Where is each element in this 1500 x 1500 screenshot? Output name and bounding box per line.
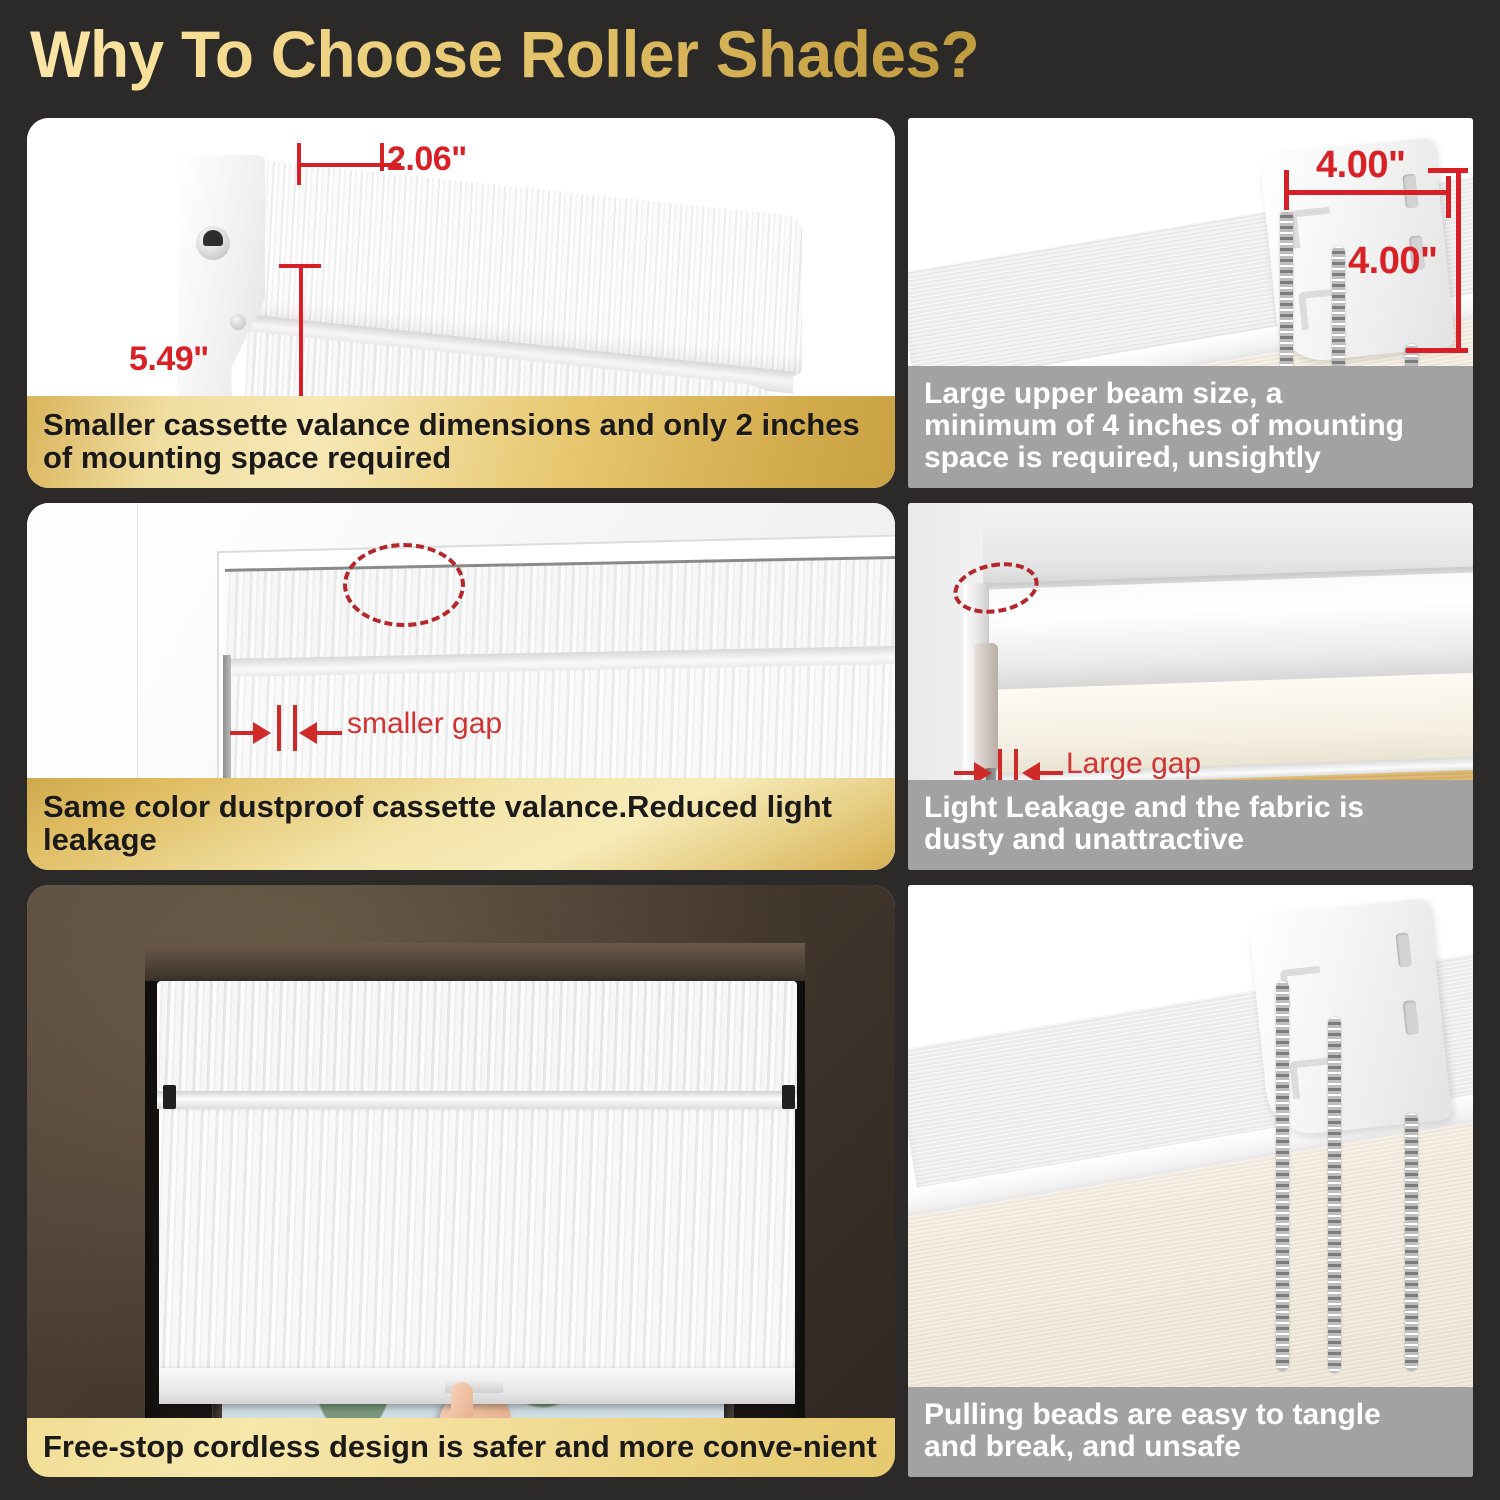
gap-tick-right (293, 705, 297, 751)
panel-cassette-valance-dimensions: 2.06" 5.49" Smaller cassette valance dim… (27, 118, 895, 488)
panel-free-stop-cordless-design: Free-stop cordless design is safer and m… (27, 885, 895, 1477)
beam-height-dimension-label: 4.00" (1348, 240, 1437, 283)
beam-width-dimension-label: 4.00" (1316, 144, 1405, 187)
bracket-hook-icon (1289, 207, 1333, 249)
bead-chain-left (1276, 981, 1289, 1371)
tension-knob-icon (196, 226, 230, 260)
beam-height-tick-top (1428, 168, 1468, 173)
caption-line-2: and break, and unsafe (924, 1431, 1459, 1463)
caption-line-2: minimum of 4 inches of mounting (924, 410, 1459, 442)
bead-chain-middle (1328, 1017, 1341, 1373)
height-dimension-label: 5.49" (129, 340, 209, 379)
smaller-gap-label: smaller gap (347, 707, 502, 741)
large-gap-label: Large gap (1066, 747, 1201, 781)
highlight-circle-valance-seam (343, 543, 465, 627)
bracket-slot-upper (1395, 932, 1411, 967)
infographic-root: Why To Choose Roller Shades? 2.06" 5.49"… (0, 0, 1500, 1500)
clutch-mechanism (974, 643, 998, 773)
gap-tick-left (277, 705, 281, 751)
caption-line-2: dusty and unattractive (924, 824, 1459, 856)
panel-caption-pulling-beads-unsafe: Pulling beads are easy to tangle and bre… (908, 1387, 1473, 1477)
panel-caption-dustproof-cassette-valance: Same color dustproof cassette valance.Re… (27, 778, 895, 870)
panel-caption-free-stop-cordless-design: Free-stop cordless design is safer and m… (27, 1418, 895, 1477)
gap-arrow-left-head (253, 722, 271, 744)
beam-height-dimension-line (1456, 170, 1461, 352)
panel-large-upper-beam: 4.00" 4.00" Large upper beam size, a min… (908, 118, 1473, 488)
width-dimension-tick-right (380, 143, 384, 171)
gap-arrow-right-stem (316, 731, 342, 735)
beam-width-tick-left (1284, 170, 1289, 210)
caption-line-1: Large upper beam size, a (924, 378, 1459, 410)
window-reveal-top (145, 943, 805, 981)
width-dimension-tick-left (297, 143, 301, 185)
headrail-end-nub-left (163, 1085, 176, 1109)
secondary-screw-icon (230, 314, 246, 330)
bead-chain-right (1405, 1113, 1418, 1371)
beam-height-tick-bottom (1406, 348, 1468, 353)
cassette-headrail (157, 981, 797, 1099)
panel-caption-light-leakage-dusty-fabric: Light Leakage and the fabric is dusty an… (908, 780, 1473, 870)
caption-line-3: space is required, unsightly (924, 442, 1459, 474)
caption-line-1: Light Leakage and the fabric is (924, 792, 1459, 824)
caption-line-1: Pulling beads are easy to tangle (924, 1399, 1459, 1431)
width-dimension-line (299, 163, 401, 167)
headrail-end-nub-right (782, 1085, 795, 1109)
cassette-valance (225, 553, 895, 661)
panel-pulling-beads-unsafe: Pulling beads are easy to tangle and bre… (908, 885, 1473, 1477)
bracket-slot-lower (1403, 1000, 1419, 1035)
width-dimension-label: 2.06" (387, 140, 467, 179)
gap-arrow-right-head (299, 722, 317, 744)
bracket-hook-lower-icon (1289, 1057, 1333, 1099)
shade-fabric-body (159, 1107, 795, 1382)
panel-caption-cassette-valance-dimensions: Smaller cassette valance dimensions and … (27, 396, 895, 488)
product-photo-window-scene (27, 885, 895, 1477)
page-title: Why To Choose Roller Shades? (30, 16, 979, 92)
panel-dustproof-cassette-valance: smaller gap Same color dustproof cassett… (27, 503, 895, 870)
panel-light-leakage-dusty-fabric: Large gap Light Leakage and the fabric i… (908, 503, 1473, 870)
panel-caption-large-upper-beam: Large upper beam size, a minimum of 4 in… (908, 366, 1473, 488)
gap-arrow-right-stem (1039, 771, 1063, 775)
height-dimension-tick-top (279, 264, 321, 268)
beam-width-tick-right (1446, 176, 1451, 218)
headrail-lip (157, 1091, 797, 1109)
beam-width-dimension-line (1286, 190, 1451, 195)
